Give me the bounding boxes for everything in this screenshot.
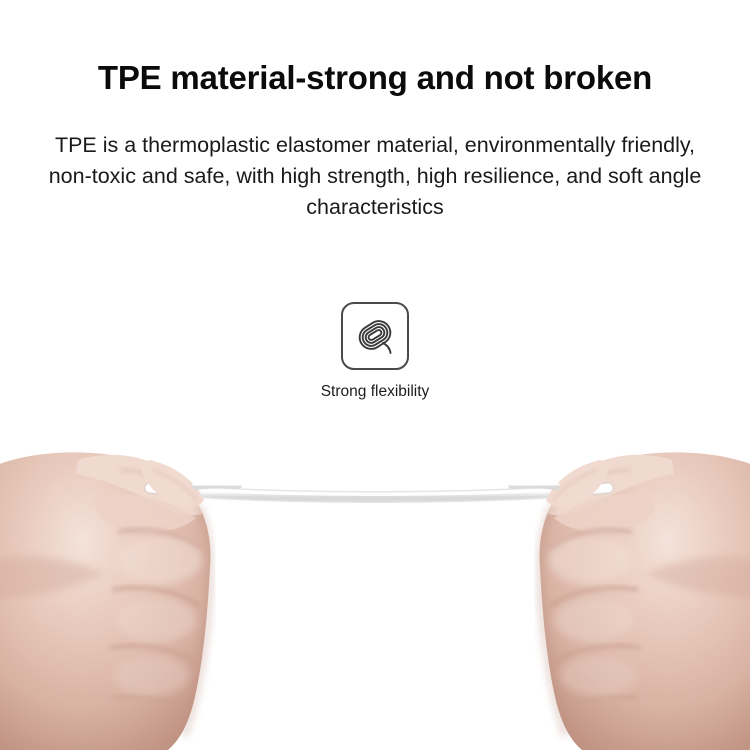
page-title: TPE material-strong and not broken <box>0 58 750 98</box>
feature-icon-frame <box>341 302 409 370</box>
product-feature-page: TPE material-strong and not broken TPE i… <box>0 0 750 750</box>
feature-caption: Strong flexibility <box>0 382 750 402</box>
description-paragraph: TPE is a thermoplastic elastomer materia… <box>44 130 706 223</box>
photo-illustration <box>0 440 750 750</box>
hands-stretching-cable-photo <box>0 440 750 750</box>
coiled-cable-icon <box>350 311 400 361</box>
feature-block: Strong flexibility <box>0 302 750 402</box>
